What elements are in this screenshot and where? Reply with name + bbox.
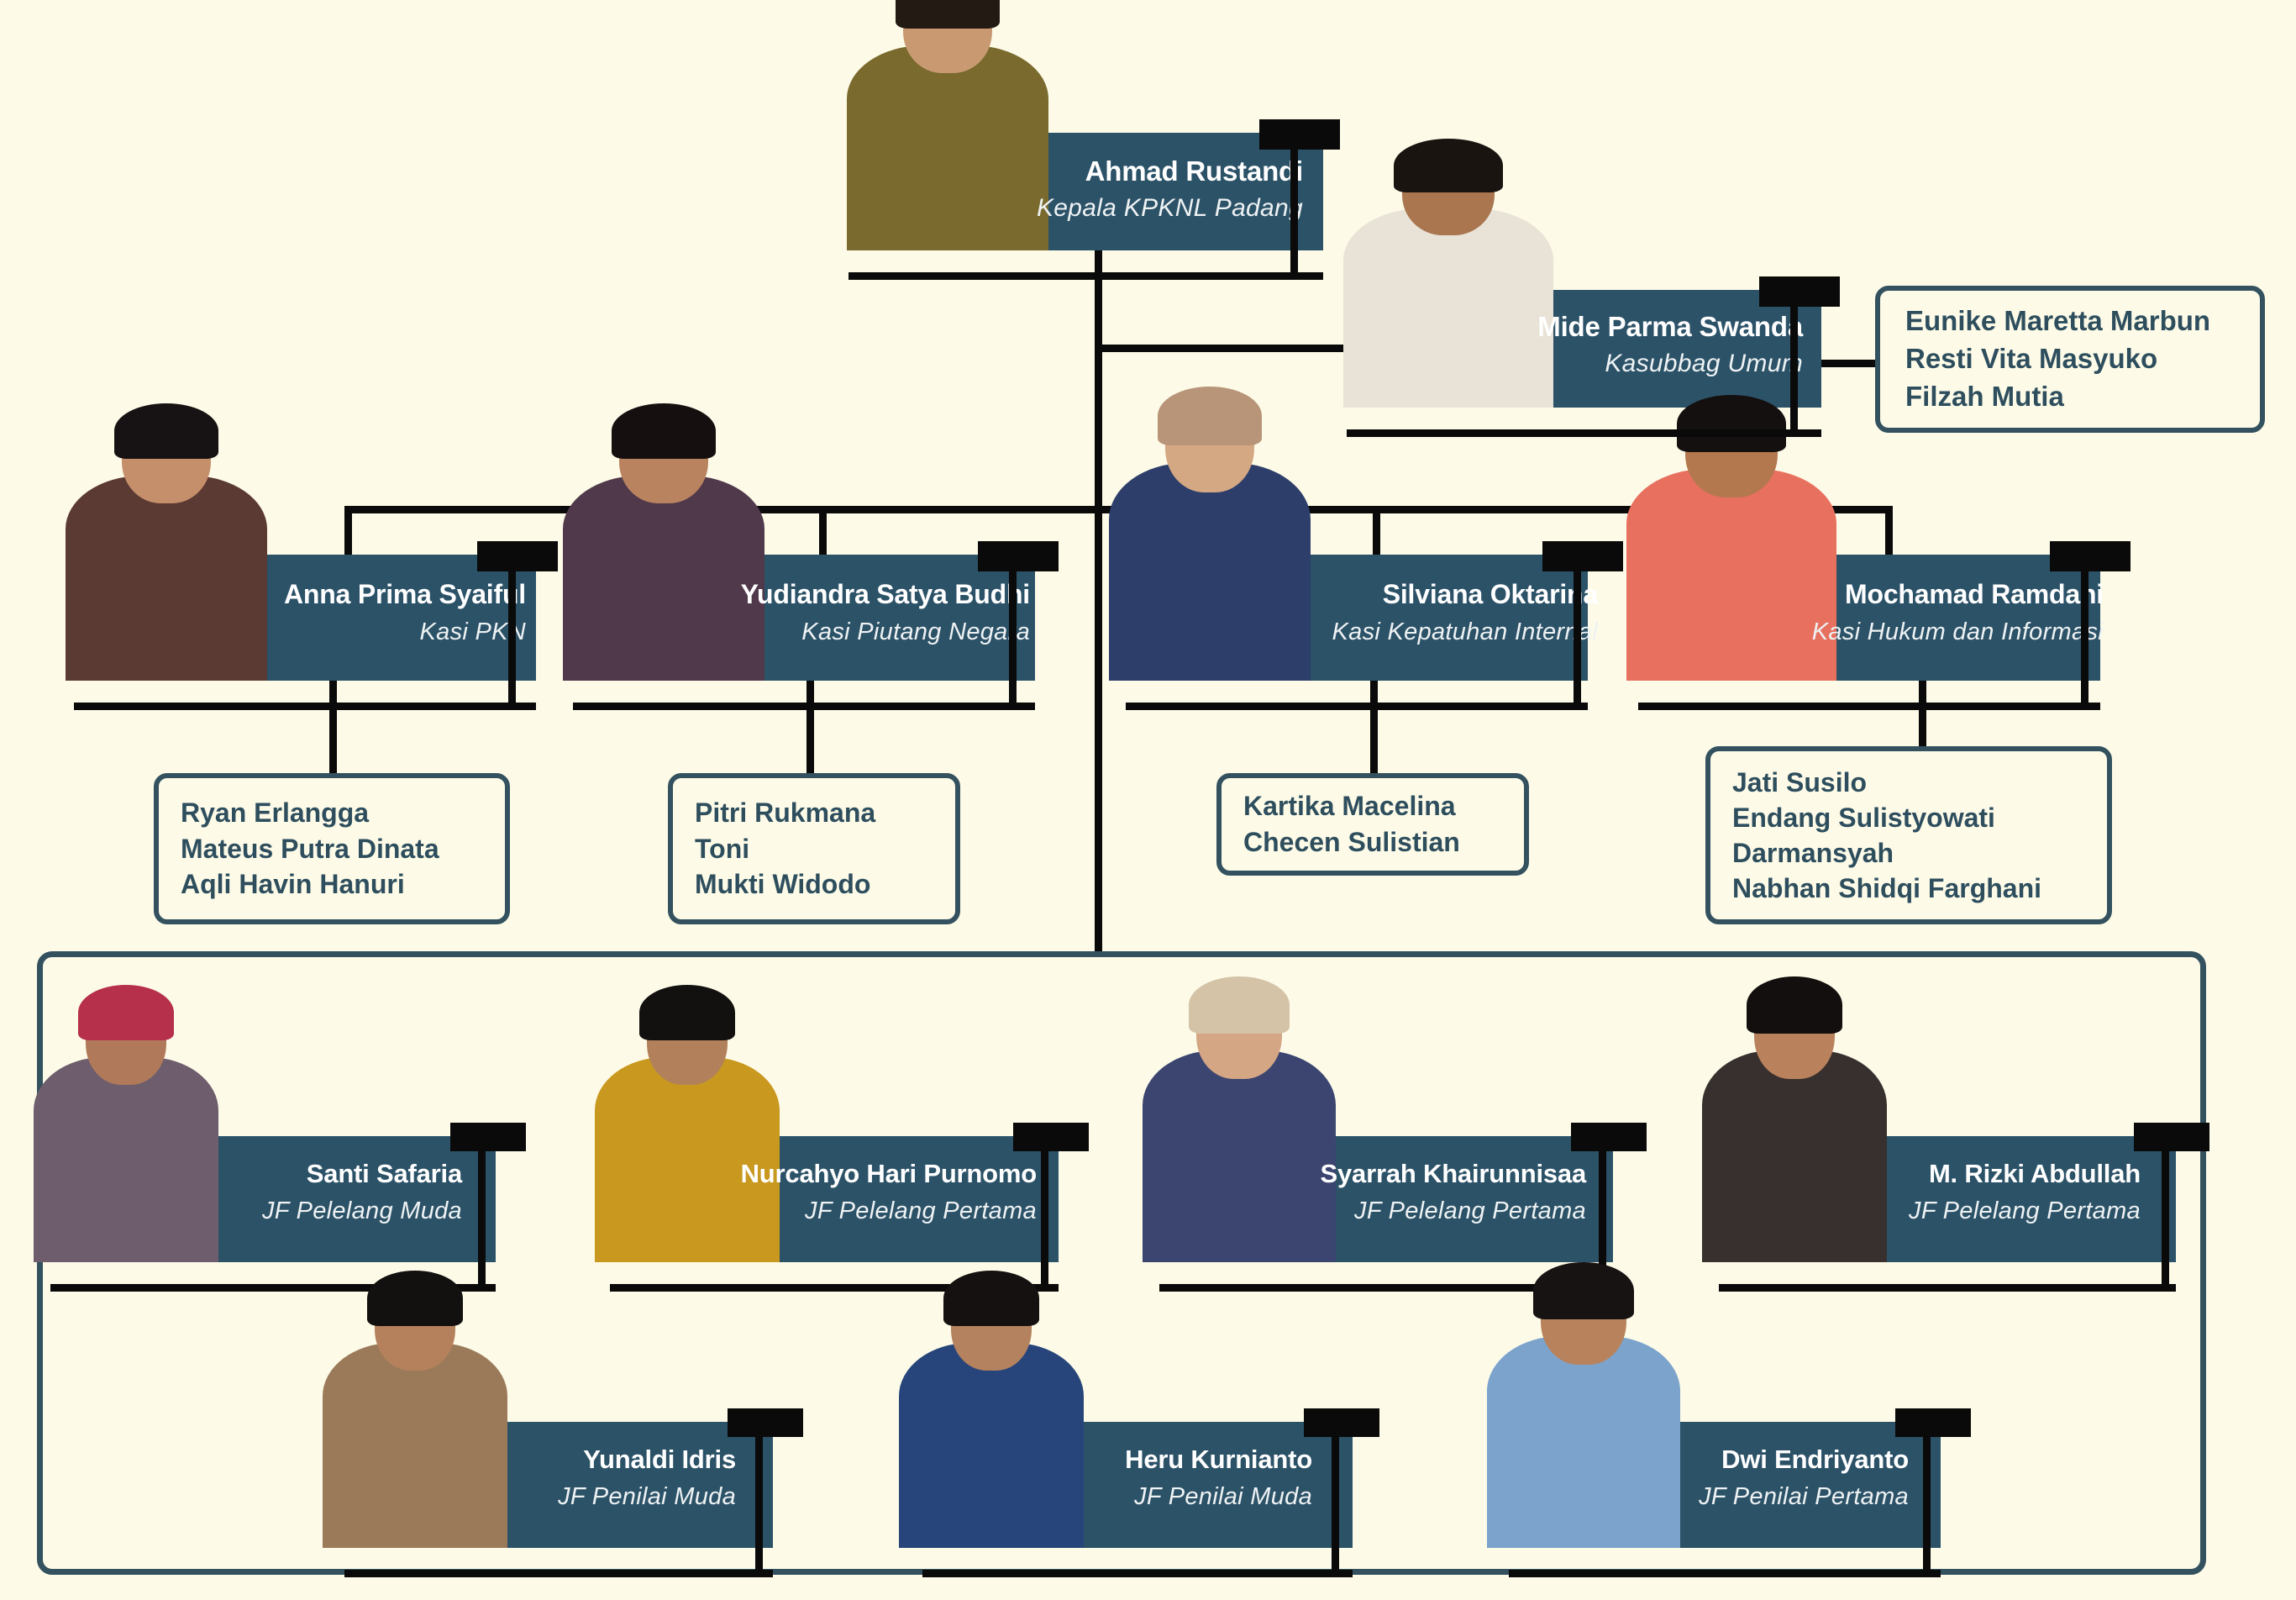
card-corner-tab — [450, 1123, 526, 1151]
card-bottom-bar — [1509, 1570, 1941, 1577]
person-role: Kasi Hukum dan Informasi — [1812, 618, 2104, 645]
person-card-jf-7[interactable]: Dwi Endriyanto JF Penilai Pertama — [1546, 1422, 1941, 1548]
person-card-jf-4[interactable]: M. Rizki Abdullah JF Pelelang Pertama — [1756, 1136, 2176, 1262]
card-corner-tab — [728, 1408, 803, 1437]
card-text: Yunaldi Idris JF Penilai Muda — [558, 1445, 736, 1510]
card-bottom-bar — [573, 703, 1035, 710]
staff-name: Filzah Mutia — [1905, 378, 2235, 416]
card-right-bar — [1574, 541, 1581, 709]
card-corner-tab — [1542, 541, 1623, 571]
person-photo-m-rizki-abdullah — [1702, 976, 1887, 1262]
person-name: Santi Safaria — [262, 1160, 462, 1189]
person-name: M. Rizki Abdullah — [1909, 1160, 2141, 1189]
person-name: Syarrah Khairunnisaa — [1321, 1160, 1586, 1189]
card-text: Ahmad Rustandi Kepala KPKNL Padang — [1037, 156, 1303, 223]
staff-name: Kartika Macelina — [1243, 788, 1502, 824]
connector-drop-section-1 — [344, 506, 352, 558]
staff-name: Darmansyah — [1732, 835, 2085, 871]
person-card-jf-6[interactable]: Heru Kurnianto JF Penilai Muda — [958, 1422, 1353, 1548]
staff-name: Toni — [695, 831, 933, 867]
connector-spine-to-functional — [1095, 506, 1102, 951]
person-role: Kepala KPKNL Padang — [1037, 194, 1303, 223]
card-bottom-bar — [1719, 1284, 2176, 1292]
card-right-bar — [508, 541, 516, 709]
card-corner-tab — [2050, 541, 2130, 571]
card-right-bar — [478, 1123, 486, 1291]
staff-name: Nabhan Shidqi Farghani — [1732, 871, 2085, 906]
connector-section3-to-staff — [1370, 681, 1378, 775]
connector-section1-to-staff — [329, 681, 337, 775]
card-corner-tab — [1895, 1408, 1971, 1437]
person-photo-yunaldi-idris — [323, 1271, 507, 1548]
card-corner-tab — [1259, 119, 1340, 150]
person-role: JF Pelelang Muda — [262, 1197, 462, 1224]
connector-subbag-to-staff — [1821, 360, 1877, 367]
person-card-kasi-pkn[interactable]: Anna Prima Syaiful Kasi PKN — [99, 555, 536, 681]
card-bottom-bar — [1638, 703, 2100, 710]
person-photo-ahmad-rustandi — [847, 0, 1048, 250]
person-card-jf-2[interactable]: Nurcahyo Hari Purnomo JF Pelelang Pertam… — [638, 1136, 1059, 1262]
person-photo-syarrah-khairunnisaa — [1143, 976, 1336, 1262]
card-right-bar — [755, 1408, 763, 1576]
staff-name: Eunike Maretta Marbun — [1905, 303, 2235, 340]
person-photo-dwi-endriyanto — [1487, 1262, 1680, 1548]
card-text: Nurcahyo Hari Purnomo JF Pelelang Pertam… — [741, 1160, 1037, 1224]
card-corner-tab — [1013, 1123, 1089, 1151]
card-text: Anna Prima Syaiful Kasi PKN — [284, 580, 526, 645]
card-text: Yudiandra Satya Budhi Kasi Piutang Negar… — [741, 580, 1030, 645]
person-role: Kasi Kepatuhan Internal — [1332, 618, 1598, 645]
card-right-bar — [1041, 1123, 1048, 1291]
card-text: Heru Kurnianto JF Penilai Muda — [1125, 1445, 1312, 1510]
card-right-bar — [1923, 1408, 1931, 1576]
person-photo-santi-safaria — [34, 985, 218, 1262]
card-text: Mide Parma Swanda Kasubbag Umum — [1537, 312, 1803, 378]
card-bottom-bar — [1126, 703, 1588, 710]
card-text: Silviana Oktarina Kasi Kepatuhan Interna… — [1332, 580, 1598, 645]
card-right-bar — [1290, 119, 1298, 279]
card-corner-tab — [1571, 1123, 1647, 1151]
staff-name: Mateus Putra Dinata — [181, 831, 483, 867]
card-corner-tab — [1304, 1408, 1379, 1437]
person-role: Kasi Piutang Negara — [741, 618, 1030, 645]
person-name: Nurcahyo Hari Purnomo — [741, 1160, 1037, 1189]
staff-box-kasi-kepatuhan-internal[interactable]: Kartika Macelina Checen Sulistian — [1216, 773, 1529, 876]
person-card-kasubbag-umum[interactable]: Mide Parma Swanda Kasubbag Umum — [1372, 290, 1821, 408]
card-corner-tab — [1759, 276, 1840, 307]
person-role: Kasi PKN — [284, 618, 526, 645]
connector-drop-section-3 — [1373, 506, 1380, 558]
person-name: Mide Parma Swanda — [1537, 312, 1803, 343]
card-right-bar — [2162, 1123, 2169, 1291]
person-name: Heru Kurnianto — [1125, 1445, 1312, 1475]
card-right-bar — [1332, 1408, 1339, 1576]
card-bottom-bar — [74, 703, 536, 710]
card-bottom-bar — [849, 272, 1323, 280]
staff-name: Endang Sulistyowati — [1732, 800, 2085, 835]
person-photo-anna-prima-syaiful — [66, 403, 267, 681]
staff-box-kasi-pkn[interactable]: Ryan Erlangga Mateus Putra Dinata Aqli H… — [154, 773, 510, 924]
staff-name: Mukti Widodo — [695, 866, 933, 903]
person-card-jf-5[interactable]: Yunaldi Idris JF Penilai Muda — [378, 1422, 773, 1548]
person-photo-heru-kurnianto — [899, 1271, 1084, 1548]
connector-section4-to-staff — [1919, 681, 1926, 750]
staff-name: Aqli Havin Hanuri — [181, 866, 483, 903]
card-bottom-bar — [344, 1570, 773, 1577]
staff-box-subbag-umum[interactable]: Eunike Maretta Marbun Resti Vita Masyuko… — [1875, 286, 2265, 433]
connector-head-vertical — [1095, 249, 1102, 348]
card-text: Mochamad Ramdani Kasi Hukum dan Informas… — [1812, 580, 2104, 645]
card-bottom-bar — [922, 1570, 1353, 1577]
person-name: Mochamad Ramdani — [1812, 580, 2104, 610]
staff-box-kasi-hukum-dan-informasi[interactable]: Jati Susilo Endang Sulistyowati Darmansy… — [1705, 746, 2112, 924]
person-name: Yunaldi Idris — [558, 1445, 736, 1475]
person-card-head[interactable]: Ahmad Rustandi Kepala KPKNL Padang — [874, 133, 1323, 250]
card-right-bar — [2081, 541, 2088, 709]
person-name: Ahmad Rustandi — [1037, 156, 1303, 187]
person-role: JF Pelelang Pertama — [741, 1197, 1037, 1224]
person-card-kasi-piutang-negara[interactable]: Yudiandra Satya Budhi Kasi Piutang Negar… — [598, 555, 1035, 681]
connector-spine-vertical — [1095, 345, 1102, 513]
card-text: Santi Safaria JF Pelelang Muda — [262, 1160, 462, 1224]
org-chart-canvas: Ahmad Rustandi Kepala KPKNL Padang Mide … — [0, 0, 2296, 1600]
card-corner-tab — [2134, 1123, 2209, 1151]
person-role: JF Pelelang Pertama — [1321, 1197, 1586, 1224]
connector-head-to-subbag — [1095, 345, 1372, 352]
connector-section2-to-staff — [806, 681, 814, 775]
person-role: JF Penilai Muda — [1125, 1483, 1312, 1510]
person-photo-mide-parma-swanda — [1343, 139, 1553, 408]
person-photo-yudiandra-satya-budhi — [563, 403, 764, 681]
staff-name: Jati Susilo — [1732, 765, 2085, 800]
person-card-jf-1[interactable]: Santi Safaria JF Pelelang Muda — [76, 1136, 496, 1262]
person-role: Kasubbag Umum — [1537, 350, 1803, 378]
staff-name: Pitri Rukmana — [695, 795, 933, 831]
person-name: Silviana Oktarina — [1332, 580, 1598, 610]
card-text: Dwi Endriyanto JF Penilai Pertama — [1699, 1445, 1909, 1510]
person-name: Anna Prima Syaiful — [284, 580, 526, 610]
card-right-bar — [1790, 276, 1798, 436]
person-card-jf-3[interactable]: Syarrah Khairunnisaa JF Pelelang Pertama — [1193, 1136, 1613, 1262]
staff-name: Resti Vita Masyuko — [1905, 340, 2235, 378]
connector-drop-section-2 — [819, 506, 827, 558]
staff-name: Checen Sulistian — [1243, 824, 1502, 861]
card-text: M. Rizki Abdullah JF Pelelang Pertama — [1909, 1160, 2141, 1224]
person-card-kasi-kepatuhan-internal[interactable]: Silviana Oktarina Kasi Kepatuhan Interna… — [1151, 555, 1588, 681]
person-name: Dwi Endriyanto — [1699, 1445, 1909, 1475]
person-role: JF Pelelang Pertama — [1909, 1197, 2141, 1224]
connector-drop-section-4 — [1885, 506, 1893, 558]
staff-name: Ryan Erlangga — [181, 795, 483, 831]
card-text: Syarrah Khairunnisaa JF Pelelang Pertama — [1321, 1160, 1586, 1224]
person-name: Yudiandra Satya Budhi — [741, 580, 1030, 610]
person-card-kasi-hukum-dan-informasi[interactable]: Mochamad Ramdani Kasi Hukum dan Informas… — [1663, 555, 2100, 681]
person-photo-mochamad-ramdani — [1626, 395, 1836, 681]
person-photo-silviana-oktarina — [1109, 387, 1311, 681]
person-role: JF Penilai Muda — [558, 1483, 736, 1510]
person-role: JF Penilai Pertama — [1699, 1483, 1909, 1510]
card-right-bar — [1009, 541, 1017, 709]
card-corner-tab — [978, 541, 1059, 571]
staff-box-kasi-piutang-negara[interactable]: Pitri Rukmana Toni Mukti Widodo — [668, 773, 960, 924]
card-corner-tab — [477, 541, 558, 571]
card-bottom-bar — [1347, 429, 1821, 437]
